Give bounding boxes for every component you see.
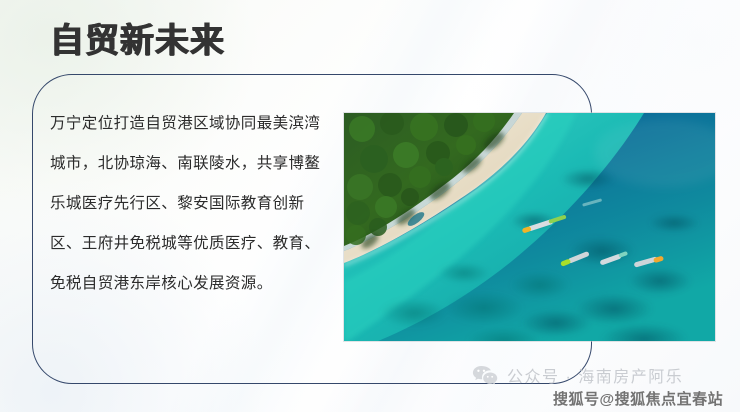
page-title: 自贸新未来	[50, 22, 225, 60]
source-watermark: 搜狐号@搜狐焦点宜春站	[553, 388, 723, 409]
footer-brand-label: 公众号 · 海南房产阿乐	[507, 363, 683, 387]
footer-brand: 公众号 · 海南房产阿乐	[472, 363, 683, 387]
coastline-illustration	[344, 113, 715, 341]
coastline-photo	[344, 113, 715, 341]
slide-canvas: 自贸新未来 万宁定位打造自贸港区域协同最美滨湾城市，北协琼海、南联陵水，共享博鳌…	[0, 0, 740, 412]
wechat-icon	[472, 364, 498, 386]
body-paragraph: 万宁定位打造自贸港区域协同最美滨湾城市，北协琼海、南联陵水，共享博鳌乐城医疗先行…	[50, 104, 335, 304]
